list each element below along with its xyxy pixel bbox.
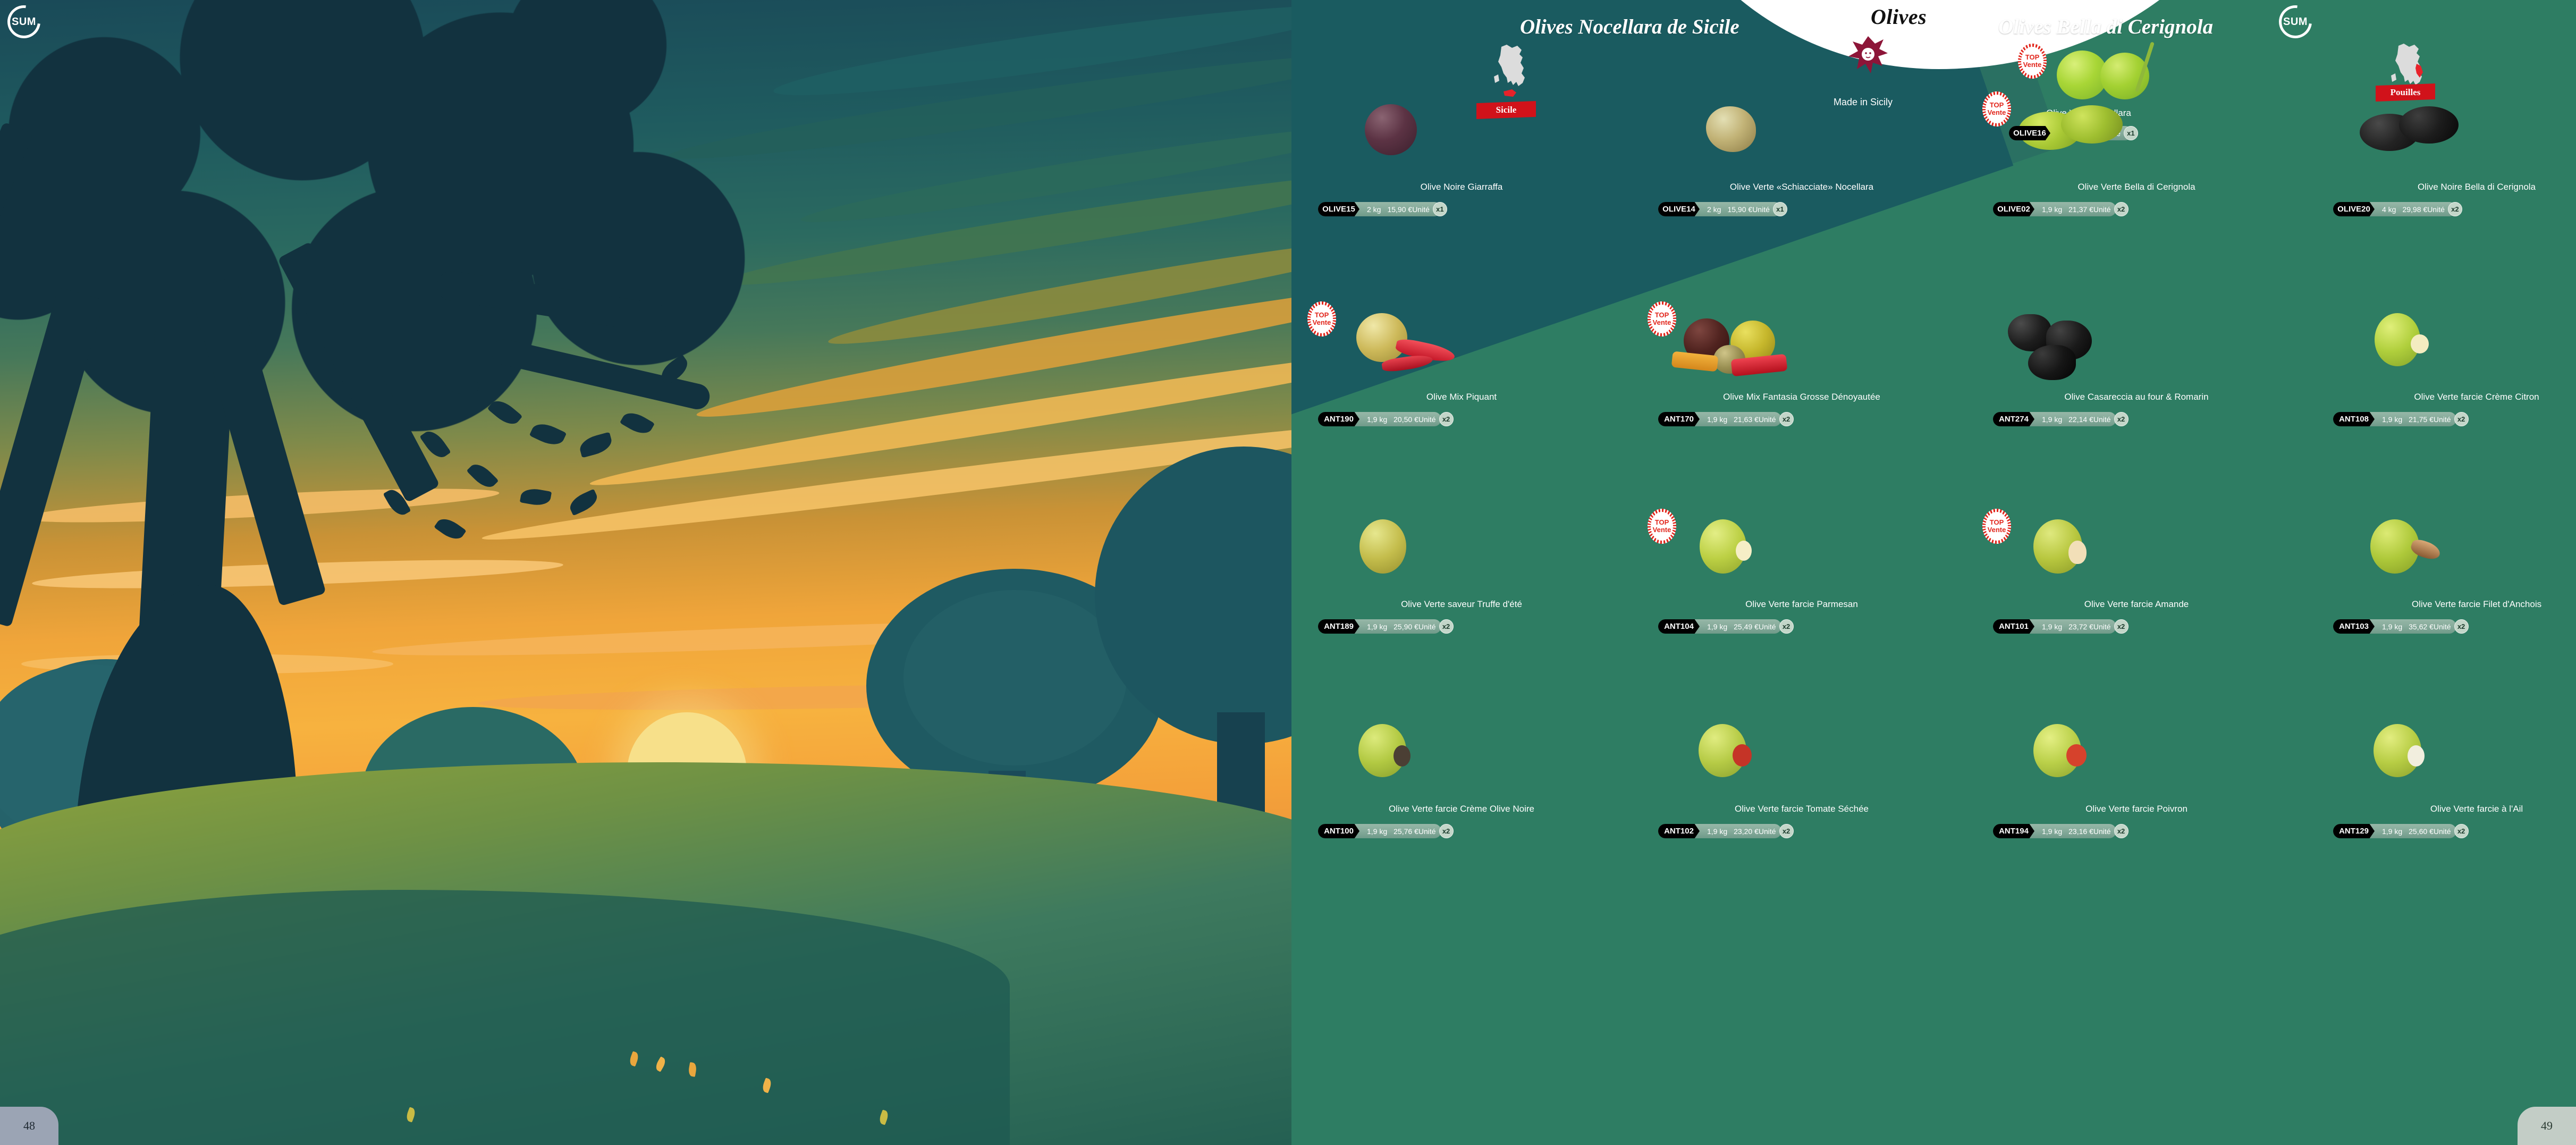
product-name: Olive Verte farcie Parmesan [1642, 599, 1961, 610]
tomato-filling [1733, 744, 1752, 767]
product-image [1302, 518, 1621, 598]
product-weight: 1,9 kg [2034, 622, 2062, 631]
product-ref[interactable]: OLIVE02 [1993, 202, 2034, 216]
product-image [1642, 101, 1961, 181]
product-ref[interactable]: ANT189 [1318, 619, 1359, 634]
product-card[interactable]: Olive Verte farcie à l'AilANT1291,9 kg25… [2317, 723, 2576, 803]
product-weight: 1,9 kg [2034, 415, 2062, 424]
product-card[interactable]: Olive Verte farcie Tomate SéchéeANT1021,… [1642, 723, 1961, 803]
product-qty-stepper[interactable]: x2 [1779, 824, 1794, 838]
product-unit: Unité [1752, 205, 1773, 214]
featured-product[interactable]: Olive Verte Nocellara OLIVE16 2 kg 16,90… [2020, 45, 2243, 104]
product-name: Olive Noire Giarraffa [1302, 182, 1621, 192]
product-image [1977, 311, 2296, 391]
product-image [2317, 723, 2576, 803]
product-qty-stepper[interactable]: x2 [1779, 412, 1794, 426]
pepper-filling [2066, 744, 2087, 767]
product-weight: 1,9 kg [1700, 415, 1727, 424]
product-qty-stepper[interactable]: x2 [2114, 412, 2129, 426]
product-card[interactable]: Olive Casareccia au four & RomarinANT274… [1977, 311, 2296, 391]
product-weight: 1,9 kg [2034, 205, 2062, 214]
product-ref[interactable]: ANT274 [1993, 412, 2034, 426]
product-unit: Unité [2093, 415, 2114, 424]
product-price: 21,37 € [2062, 205, 2093, 214]
product-weight: 1,9 kg [2375, 622, 2402, 631]
product-qty-stepper[interactable]: x2 [2454, 412, 2469, 426]
product-card[interactable]: TOPVenteOlive Verte farcie AmandeANT1011… [1977, 518, 2296, 598]
olive-baked-black [2028, 345, 2076, 380]
product-card[interactable]: Olive Verte farcie PoivronANT1941,9 kg23… [1977, 723, 2296, 803]
lemon-cream-filling [2411, 334, 2429, 353]
product-ref[interactable]: OLIVE15 [1318, 202, 1359, 216]
made-in-sicily-emblem [1844, 32, 1892, 80]
olive-grove-illustration: SUM 48 [0, 0, 1291, 1145]
product-price: 25,90 € [1387, 622, 1418, 631]
product-name: Olive Verte farcie Amande [1977, 599, 2296, 610]
product-qty-stepper[interactable]: x2 [1439, 412, 1454, 426]
product-price-bar[interactable]: ANT1891,9 kg25,90 €Unitéx2 [1318, 619, 1441, 634]
product-price: 23,72 € [2062, 622, 2093, 631]
product-price-bar[interactable]: ANT1001,9 kg25,76 €Unitéx2 [1318, 824, 1441, 838]
product-ref[interactable]: OLIVE16 [2009, 126, 2050, 140]
product-price: 22,14 € [2062, 415, 2093, 424]
product-qty-stepper[interactable]: x2 [2454, 824, 2469, 838]
product-price-bar[interactable]: ANT1081,9 kg21,75 €Unitéx2 [2333, 412, 2456, 426]
product-unit: Unité [2093, 622, 2114, 631]
product-image [1302, 723, 1621, 803]
product-weight: 1,9 kg [2034, 827, 2062, 836]
product-unit: Unité [1759, 415, 1779, 424]
product-unit: Unité [1418, 622, 1439, 631]
product-ref[interactable]: ANT102 [1658, 824, 1700, 838]
product-qty-stepper[interactable]: x2 [2114, 824, 2129, 838]
product-price-bar[interactable]: OLIVE152 kg15,90 €Unitéx1 [1318, 202, 1441, 216]
product-qty-stepper[interactable]: x2 [1439, 619, 1454, 634]
product-name: Olive Verte Bella di Cerignola [1977, 182, 2296, 192]
product-unit: Unité [1412, 205, 1433, 214]
product-card[interactable]: Olive Verte «Schiacciate» NocellaraOLIVE… [1642, 101, 1961, 181]
product-image [1977, 723, 2296, 803]
product-ref[interactable]: ANT129 [2333, 824, 2375, 838]
product-card[interactable]: Olive Verte farcie Filet d'AnchoisANT103… [2317, 518, 2576, 598]
product-unit: Unité [1418, 827, 1439, 836]
product-ref[interactable]: OLIVE14 [1658, 202, 1700, 216]
product-ref[interactable]: ANT104 [1658, 619, 1700, 634]
featured-product-image [2020, 45, 2243, 104]
product-qty-stepper[interactable]: x1 [1433, 202, 1447, 216]
page-number-left: 48 [0, 1107, 58, 1145]
product-unit: Unité [2434, 415, 2454, 424]
product-card[interactable]: Olive Verte saveur Truffe d'étéANT1891,9… [1302, 518, 1621, 598]
product-price: 29,98 € [2396, 205, 2427, 214]
product-unit: Unité [2434, 622, 2454, 631]
garlic-filling [2408, 745, 2425, 767]
black-olive-cream-filling [1393, 745, 1411, 767]
grass-shadow [0, 890, 1010, 1145]
product-price-bar[interactable]: ANT1291,9 kg25,60 €Unitéx2 [2333, 824, 2456, 838]
olive-black-whole [1365, 104, 1417, 155]
olive-spicy-mix [1356, 313, 1407, 362]
product-weight: 1,9 kg [2375, 415, 2402, 424]
product-ref[interactable]: ANT103 [2333, 619, 2375, 634]
product-name: Olive Verte «Schiacciate» Nocellara [1642, 182, 1961, 192]
sum-logo-text: SUM [2279, 5, 2312, 38]
sum-logo-text: SUM [7, 5, 40, 38]
product-price: 25,60 € [2402, 827, 2434, 836]
product-price: 35,62 € [2402, 622, 2434, 631]
product-image [1977, 518, 2296, 598]
product-price: 25,49 € [1727, 622, 1759, 631]
product-name: Olive Mix Piquant [1302, 392, 1621, 402]
product-ref[interactable]: OLIVE20 [2333, 202, 2375, 216]
product-image [2317, 311, 2576, 391]
product-price-bar[interactable]: ANT1011,9 kg23,72 €Unitéx2 [1993, 619, 2116, 634]
product-price-bar[interactable]: ANT1031,9 kg35,62 €Unitéx2 [2333, 619, 2456, 634]
product-ref[interactable]: ANT108 [2333, 412, 2375, 426]
product-name: Olive Casareccia au four & Romarin [1977, 392, 2296, 402]
product-weight: 1,9 kg [1700, 827, 1727, 836]
product-qty-stepper[interactable]: x2 [2114, 202, 2129, 216]
product-card[interactable]: Olive Verte farcie Crème CitronANT1081,9… [2317, 311, 2576, 391]
product-card[interactable]: TOPVenteOlive Verte farcie ParmesanANT10… [1642, 518, 1961, 598]
product-unit: Unité [2427, 205, 2448, 214]
sum-logo-left: SUM [7, 5, 40, 38]
product-card[interactable]: Olive Noire GiarraffaOLIVE152 kg15,90 €U… [1302, 101, 1621, 181]
product-weight: 2 kg [1700, 205, 1721, 214]
product-image [1642, 723, 1961, 803]
product-price-bar[interactable]: ANT1901,9 kg20,50 €Unitéx2 [1318, 412, 1441, 426]
product-qty-stepper[interactable]: x1 [1773, 202, 1787, 216]
olive-crushed-green [1706, 106, 1756, 152]
product-name: Olive Noire Bella di Cerignola [2317, 182, 2576, 192]
product-image [1977, 101, 2296, 181]
product-weight: 1,9 kg [1700, 622, 1727, 631]
italy-map-sicile [1491, 44, 1536, 103]
product-image [2317, 518, 2576, 598]
product-name: Olive Verte farcie à l'Ail [2317, 804, 2576, 814]
product-unit: Unité [1759, 827, 1779, 836]
product-price: 15,90 € [1381, 205, 1412, 214]
product-price-bar[interactable]: OLIVE204 kg29,98 €Unitéx2 [2333, 202, 2456, 216]
product-price-bar[interactable]: ANT1941,9 kg23,16 €Unitéx2 [1993, 824, 2116, 838]
product-card[interactable]: Olive Noire Bella di CerignolaOLIVE204 k… [2317, 101, 2576, 181]
olive-truffle-flavour [1359, 519, 1406, 574]
product-unit: Unité [2093, 205, 2114, 214]
catalog-spread: SUM 48 Olives Olives Nocellara de Sicile… [0, 0, 2576, 1145]
banner-title: Olives [1871, 4, 1927, 29]
parmesan-filling [1736, 541, 1752, 561]
product-ref[interactable]: ANT101 [1993, 619, 2034, 634]
product-ref[interactable]: ANT170 [1658, 412, 1700, 426]
product-weight: 1,9 kg [1359, 415, 1387, 424]
olive-green-large [2061, 105, 2123, 144]
product-qty-stepper[interactable]: x2 [1439, 824, 1454, 838]
product-image [2317, 101, 2576, 181]
product-card[interactable]: TOPVenteOlive Mix Fantasia Grosse Dénoya… [1642, 311, 1961, 391]
product-price: 15,90 € [1721, 205, 1752, 214]
product-card[interactable]: Olive Verte farcie Crème Olive NoireANT1… [1302, 723, 1621, 803]
product-image [1642, 518, 1961, 598]
product-ref[interactable]: ANT194 [1993, 824, 2034, 838]
product-price: 20,50 € [1387, 415, 1418, 424]
product-image [1302, 101, 1621, 181]
product-price: 23,20 € [1727, 827, 1759, 836]
olive-black-large [2399, 106, 2459, 144]
product-unit: Unité [2434, 827, 2454, 836]
product-card[interactable]: TOPVenteOlive Mix PiquantANT1901,9 kg20,… [1302, 311, 1621, 391]
product-ref[interactable]: ANT190 [1318, 412, 1359, 426]
product-price-bar[interactable]: ANT1701,9 kg21,63 €Unitéx2 [1658, 412, 1781, 426]
product-price: 23,16 € [2062, 827, 2093, 836]
product-price: 21,63 € [1727, 415, 1759, 424]
product-name: Olive Verte farcie Filet d'Anchois [2317, 599, 2576, 610]
product-unit: Unité [1418, 415, 1439, 424]
product-name: Olive Verte farcie Tomate Séchée [1642, 804, 1961, 814]
product-unit: Unité [1759, 622, 1779, 631]
product-price: 25,76 € [1387, 827, 1418, 836]
almond-filling [2068, 541, 2087, 564]
product-card[interactable]: TOPVenteOlive Verte Bella di CerignolaOL… [1977, 101, 2296, 181]
product-name: Olive Verte saveur Truffe d'été [1302, 599, 1621, 610]
product-qty-stepper[interactable]: x2 [2454, 619, 2469, 634]
section-title-sicile: Olives Nocellara de Sicile [1520, 15, 1739, 39]
product-name: Olive Verte farcie Crème Olive Noire [1302, 804, 1621, 814]
sum-logo-right: SUM [2279, 5, 2312, 38]
product-price-bar[interactable]: ANT1041,9 kg25,49 €Unitéx2 [1658, 619, 1781, 634]
product-price: 21,75 € [2402, 415, 2434, 424]
product-image [1642, 311, 1961, 391]
page-number-right: 49 [2518, 1107, 2576, 1145]
product-name: Olive Verte farcie Crème Citron [2317, 392, 2576, 402]
product-weight: 1,9 kg [2375, 827, 2402, 836]
product-weight: 2 kg [1359, 205, 1381, 214]
section-title-cerignola: Olives Bella di Cerignola [1998, 15, 2213, 39]
region-ribbon-pouilles: Pouilles [2376, 83, 2435, 102]
product-price-bar[interactable]: OLIVE142 kg15,90 €Unitéx1 [1658, 202, 1781, 216]
product-unit: Unité [2093, 827, 2114, 836]
olives-catalog-page: Olives Olives Nocellara de Sicile Olives… [1291, 0, 2576, 1145]
product-qty-stepper[interactable]: x2 [2114, 619, 2129, 634]
product-weight: 4 kg [2375, 205, 2396, 214]
product-qty-stepper[interactable]: x2 [2448, 202, 2462, 216]
product-qty-stepper[interactable]: x2 [1779, 619, 1794, 634]
product-price-bar[interactable]: ANT2741,9 kg22,14 €Unitéx2 [1993, 412, 2116, 426]
product-weight: 1,9 kg [1359, 827, 1387, 836]
product-price-bar[interactable]: OLIVE021,9 kg21,37 €Unitéx2 [1993, 202, 2116, 216]
product-weight: 1,9 kg [1359, 622, 1387, 631]
product-name: Olive Verte farcie Poivron [1977, 804, 2296, 814]
product-name: Olive Mix Fantasia Grosse Dénoyautée [1642, 392, 1961, 402]
product-ref[interactable]: ANT100 [1318, 824, 1359, 838]
product-price-bar[interactable]: ANT1021,9 kg23,20 €Unitéx2 [1658, 824, 1781, 838]
product-image [1302, 311, 1621, 391]
